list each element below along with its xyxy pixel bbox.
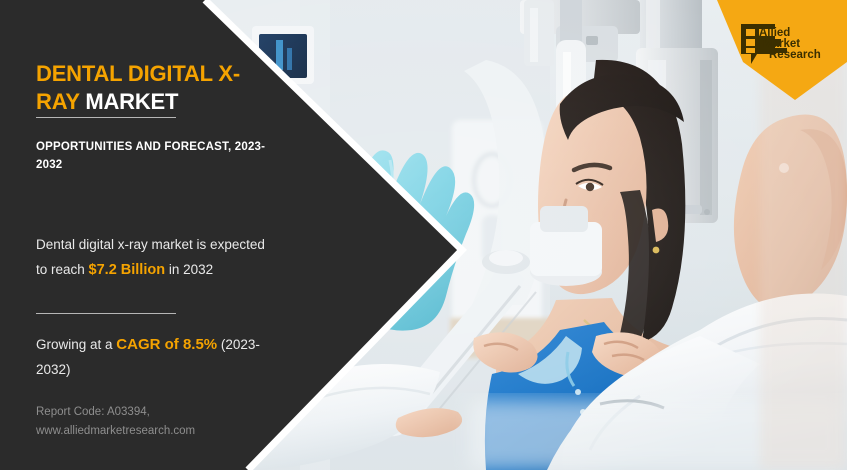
- speech-bubble-bars-icon: Allied Market Research: [739, 22, 839, 68]
- report-website: www.alliedmarketresearch.com: [36, 422, 286, 441]
- brand-banner: Allied Market Research: [717, 0, 847, 100]
- stat-cagr: Growing at a CAGR of 8.5% (2023-2032): [36, 332, 281, 382]
- stat-cagr-lead: Growing at a: [36, 337, 116, 352]
- report-footer: Report Code: A03394, www.alliedmarketres…: [36, 403, 286, 441]
- page-title: DENTAL DIGITAL X-RAY MARKET: [36, 60, 271, 116]
- stat-market-size-trail: in 2032: [165, 262, 213, 277]
- page-title-rest: MARKET: [79, 89, 178, 114]
- stat-market-size: Dental digital x-ray market is expected …: [36, 232, 271, 283]
- infographic-banner: DENTAL DIGITAL X-RAY MARKET OPPORTUNITIE…: [0, 0, 847, 470]
- logo-text-research: Research: [769, 49, 821, 61]
- stat-market-size-value: $7.2 Billion: [89, 262, 166, 278]
- report-code: Report Code: A03394,: [36, 403, 286, 422]
- divider-top: [36, 117, 176, 118]
- report-subtitle: OPPORTUNITIES AND FORECAST, 2023-2032: [36, 138, 276, 174]
- stat-cagr-value: CAGR of 8.5%: [116, 336, 217, 353]
- divider-bottom: [36, 313, 176, 314]
- report-text-content: DENTAL DIGITAL X-RAY MARKET OPPORTUNITIE…: [0, 0, 300, 470]
- allied-market-research-logo[interactable]: Allied Market Research: [739, 22, 839, 68]
